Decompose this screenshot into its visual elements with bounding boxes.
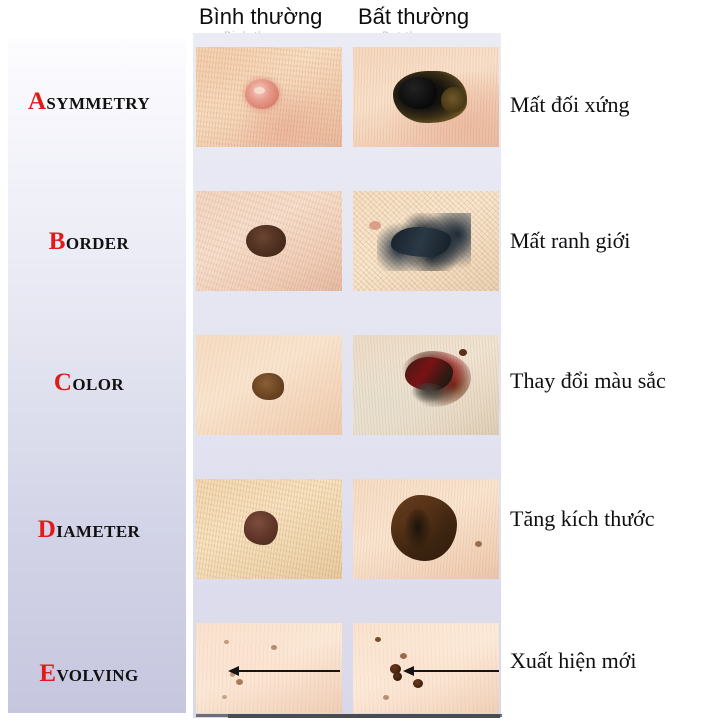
- photo-border-abnormal: [353, 191, 499, 291]
- description-color: Thay đổi màu sắc: [510, 368, 712, 394]
- photo-asymmetry-abnormal: [353, 47, 499, 147]
- lesion-diameter-normal: [244, 511, 278, 545]
- lesion-color-normal: [252, 373, 284, 400]
- description-border: Mất ranh giới: [510, 228, 712, 254]
- photo-evolving-normal: [196, 623, 342, 713]
- rule-label-asymmetry: ASYMMETRY: [0, 89, 178, 114]
- photo-color-normal: [196, 335, 342, 435]
- description-evolving: Xuất hiện mới: [510, 648, 712, 674]
- photo-grid-panel: [193, 33, 501, 718]
- rule-initial-e: E: [39, 660, 56, 687]
- lesion-border-normal: [246, 225, 286, 257]
- description-diameter: Tăng kích thước: [510, 506, 712, 532]
- rule-rest-color: OLOR: [72, 375, 124, 394]
- photo-diameter-normal: [196, 479, 342, 579]
- rule-rest-diameter: IAMETER: [56, 522, 140, 541]
- rule-label-color: COLOR: [0, 370, 178, 395]
- column-header-normal: Bình thường: [199, 4, 322, 30]
- photo-asymmetry-normal: [196, 47, 342, 147]
- rule-initial-c: C: [54, 369, 72, 396]
- rule-rest-evolving: VOLVING: [56, 666, 138, 685]
- rule-rest-border: ORDER: [66, 234, 129, 253]
- lesion-asymmetry-normal: [245, 79, 279, 109]
- rule-initial-b: B: [49, 228, 66, 255]
- photo-color-abnormal: [353, 335, 499, 435]
- rule-rest-asymmetry: SYMMETRY: [46, 94, 150, 113]
- photo-border-normal: [196, 191, 342, 291]
- rule-initial-d: D: [38, 516, 56, 543]
- photo-evolving-abnormal: [353, 623, 499, 713]
- rule-label-diameter: DIAMETER: [0, 517, 178, 542]
- photo-diameter-abnormal: [353, 479, 499, 579]
- column-header-abnormal: Bất thường: [358, 4, 469, 30]
- rule-initial-a: A: [28, 88, 46, 115]
- rule-label-evolving: EVOLVING: [0, 661, 178, 686]
- rule-label-border: BORDER: [0, 229, 178, 254]
- bottom-rule-dark: [228, 714, 500, 718]
- description-asymmetry: Mất đối xứng: [510, 92, 712, 118]
